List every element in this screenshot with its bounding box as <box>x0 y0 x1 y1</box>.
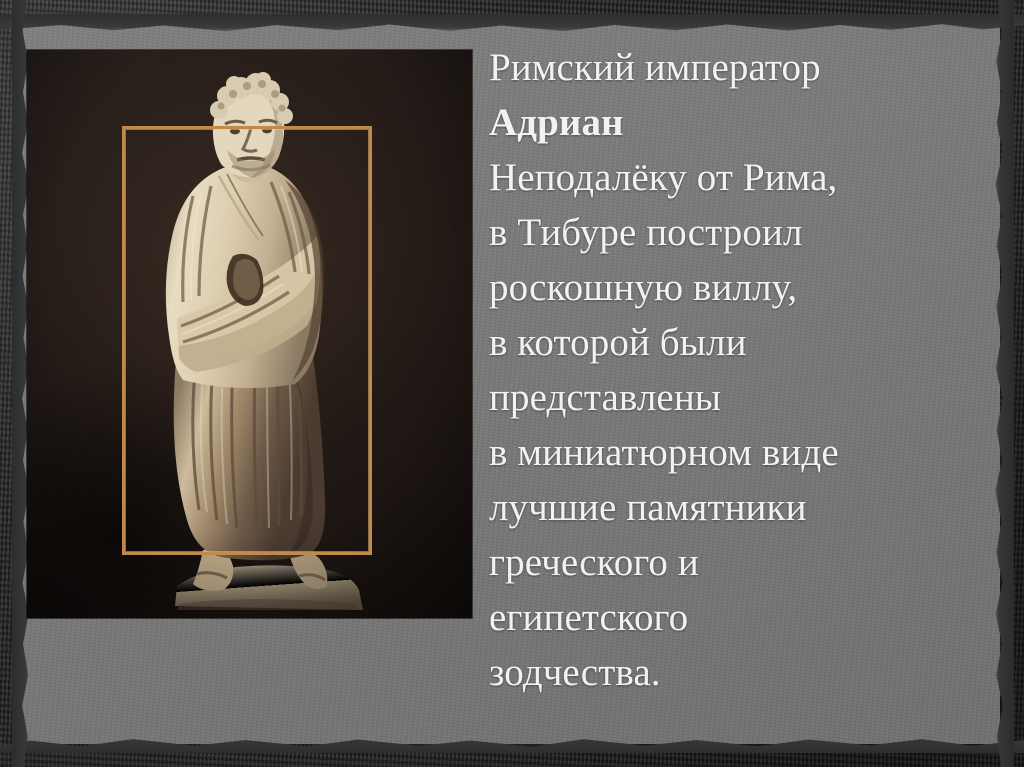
text-line-11: египетского <box>489 590 994 645</box>
text-line-4: в Тибуре построил <box>489 205 994 260</box>
text-line-2: Адриан <box>489 95 994 150</box>
text-line-10: греческого и <box>489 535 994 590</box>
text-line-1: Римский император <box>489 40 994 95</box>
slide-text-block: Римский император Адриан Неподалёку от Р… <box>489 40 994 700</box>
text-line-9: лучшие памятники <box>489 480 994 535</box>
photo-decorative-rectangle <box>122 126 372 555</box>
text-line-12: зодчества. <box>489 645 994 700</box>
text-line-6: в которой были <box>489 315 994 370</box>
text-line-5: роскошную виллу, <box>489 260 994 315</box>
text-line-7: представлены <box>489 370 994 425</box>
presentation-slide: Римский император Адриан Неподалёку от Р… <box>0 0 1024 767</box>
text-line-3: Неподалёку от Рима, <box>489 150 994 205</box>
text-line-8: в миниатюрном виде <box>489 425 994 480</box>
hadrian-statue-photo <box>27 50 472 618</box>
